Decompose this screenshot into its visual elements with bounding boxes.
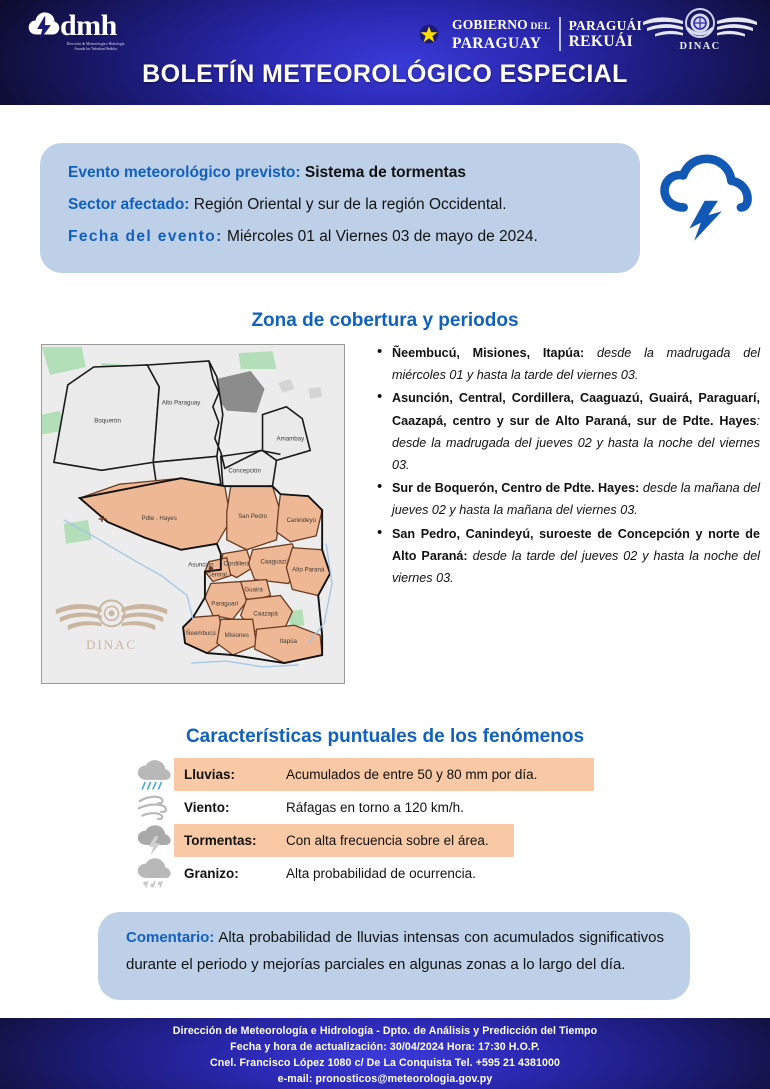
svg-text:Misiones: Misiones	[225, 632, 249, 639]
svg-text:Caazapá: Caazapá	[253, 610, 278, 617]
event-type-line: Evento meteorológico previsto: Sistema d…	[68, 157, 616, 189]
comment-paragraph: Comentario: Alta probabilidad de lluvias…	[126, 924, 664, 978]
cloud-lightning-icon	[27, 9, 61, 43]
dinac-logo: DINAC	[641, 6, 759, 58]
row-value: Ráfagas en torno a 120 km/h.	[286, 800, 464, 815]
svg-text:Asunción: Asunción	[188, 562, 214, 569]
row-value: Alta probabilidad de ocurrencia.	[286, 866, 476, 881]
event-sector-line: Sector afectado: Región Oriental y sur d…	[68, 189, 616, 221]
dmh-tagline: Dirección de Meteorología e Hidrología A…	[44, 42, 147, 53]
svg-text:Itapúa: Itapúa	[280, 638, 298, 645]
event-type-value: Sistema de tormentas	[305, 164, 466, 181]
dmh-logo: dmh Dirección de Meteorología e Hidrolog…	[22, 6, 147, 58]
list-item: San Pedro, Canindeyú, suroeste de Concep…	[392, 523, 760, 590]
event-date-line: Fecha del evento: Miércoles 01 al Vierne…	[68, 221, 616, 253]
svg-text:Caaguazú: Caaguazú	[260, 559, 289, 566]
dinac-wings-icon	[641, 6, 759, 44]
coverage-places: Ñeembucú, Misiones, Itapúa:	[392, 346, 584, 360]
svg-text:Pdte . Hayes: Pdte . Hayes	[142, 515, 177, 522]
comment-key: Comentario:	[126, 929, 214, 946]
gobierno-text-es: GOBIERNO DEL PARAGUAY	[452, 17, 551, 52]
event-sector-key: Sector afectado:	[68, 196, 189, 213]
table-row: Tormentas: Con alta frecuencia sobre el …	[136, 824, 636, 857]
gobierno-paraguay-logo: GOBIERNO DEL PARAGUAY PARAGUÁI REKUÁI	[412, 12, 628, 56]
event-sector-value: Región Oriental y sur de la región Occid…	[194, 196, 507, 213]
coverage-section-title: Zona de cobertura y periodos	[0, 310, 770, 332]
row-label: Granizo:	[174, 866, 286, 881]
event-date-value: Miércoles 01 al Viernes 03 de mayo de 20…	[227, 228, 538, 245]
hail-cloud-icon	[136, 858, 172, 889]
characteristics-section-title: Características puntuales de los fenómen…	[0, 726, 770, 748]
svg-text:Concepción: Concepción	[228, 467, 261, 474]
paraguay-emblem-icon	[412, 17, 446, 51]
table-row: Viento: Ráfagas en torno a 120 km/h.	[136, 791, 636, 824]
storm-cloud-icon	[655, 146, 760, 246]
svg-text:Boquerón: Boquerón	[94, 418, 121, 425]
footer-line-3: Cnel. Francisco López 1080 c/ De La Conq…	[0, 1055, 770, 1071]
characteristics-table: Lluvias: Acumulados de entre 50 y 80 mm …	[136, 758, 636, 890]
svg-text:Alto Paraguay: Alto Paraguay	[162, 400, 202, 407]
event-type-key: Evento meteorológico previsto:	[68, 164, 301, 181]
list-item: Sur de Boquerón, Centro de Pdte. Hayes: …	[392, 477, 760, 521]
svg-text:Amambay: Amambay	[277, 435, 306, 442]
page-title: BOLETÍN METEOROLÓGICO ESPECIAL	[0, 60, 770, 89]
paraguay-departments-map: DINAC Alto Paraguay Boquerón Concepción …	[41, 344, 345, 684]
page-footer: Dirección de Meteorología e Hidrología -…	[0, 1018, 770, 1089]
svg-text:Ñeembucú: Ñeembucú	[186, 630, 216, 637]
dmh-wordmark: dmh	[60, 11, 117, 41]
footer-line-2: Fecha y hora de actualización: 30/04/202…	[0, 1039, 770, 1055]
event-summary-section: Evento meteorológico previsto: Sistema d…	[0, 138, 770, 288]
row-value: Con alta frecuencia sobre el área.	[286, 833, 489, 848]
rain-cloud-icon	[136, 759, 172, 790]
thunderstorm-cloud-icon	[136, 825, 172, 856]
svg-text:Alto Paraná: Alto Paraná	[292, 567, 325, 574]
coverage-list: Ñeembucú, Misiones, Itapúa: desde la mad…	[372, 342, 764, 590]
row-label: Lluvias:	[174, 767, 286, 782]
comment-box: Comentario: Alta probabilidad de lluvias…	[98, 912, 690, 1000]
map-svg: DINAC Alto Paraguay Boquerón Concepción …	[42, 345, 344, 683]
coverage-places: Asunción, Central, Cordillera, Caaguazú,…	[392, 391, 760, 427]
coverage-places: Sur de Boquerón, Centro de Pdte. Hayes:	[392, 481, 639, 495]
wind-icon	[136, 792, 172, 823]
row-value: Acumulados de entre 50 y 80 mm por día.	[286, 767, 537, 782]
event-date-key: Fecha del evento:	[68, 228, 223, 245]
event-info-box: Evento meteorológico previsto: Sistema d…	[40, 143, 640, 273]
svg-text:Guairá: Guairá	[244, 586, 263, 593]
svg-text:Cordillera: Cordillera	[224, 561, 251, 568]
row-label: Viento:	[174, 800, 286, 815]
footer-email: e-mail: pronosticos@meteorologia.gov.py	[0, 1071, 770, 1087]
page-header: dmh Dirección de Meteorología e Hidrolog…	[0, 0, 770, 108]
svg-text:San Pedro: San Pedro	[238, 513, 268, 520]
table-row: Lluvias: Acumulados de entre 50 y 80 mm …	[136, 758, 636, 791]
row-label: Tormentas:	[174, 833, 286, 848]
gobierno-text-gn: PARAGUÁI REKUÁI	[569, 18, 642, 50]
dinac-label: DINAC	[641, 41, 759, 52]
svg-text:Paraguarí: Paraguarí	[211, 600, 238, 607]
list-item: Asunción, Central, Cordillera, Caaguazú,…	[392, 387, 760, 476]
footer-line-1: Dirección de Meteorología e Hidrología -…	[0, 1023, 770, 1039]
logo-divider	[559, 17, 561, 51]
list-item: Ñeembucú, Misiones, Itapúa: desde la mad…	[392, 342, 760, 386]
svg-text:DINAC: DINAC	[86, 637, 137, 652]
svg-text:Central: Central	[207, 572, 227, 579]
table-row: Granizo: Alta probabilidad de ocurrencia…	[136, 857, 636, 890]
svg-text:Canindeyú: Canindeyú	[287, 517, 317, 524]
